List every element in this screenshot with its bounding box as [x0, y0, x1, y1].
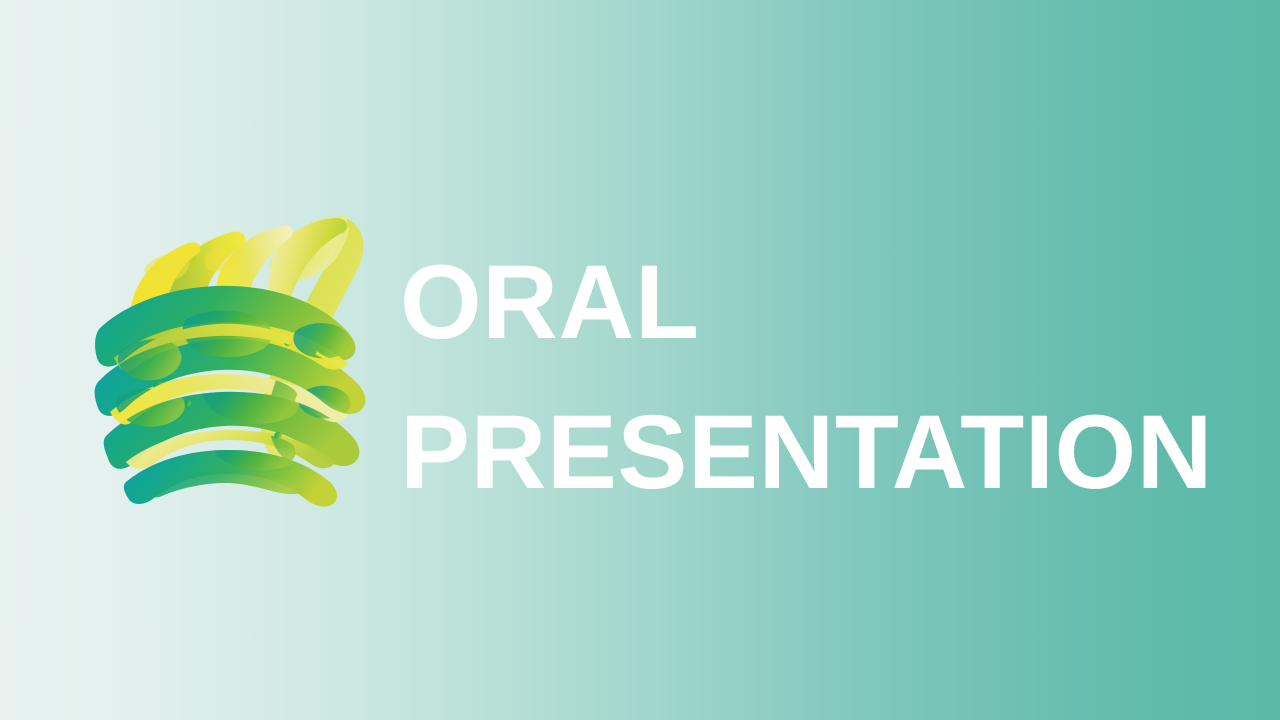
presentation-slide: ORAL PRESENTATION — [0, 0, 1280, 720]
title-line-1: ORAL — [400, 228, 1230, 378]
slide-title: ORAL PRESENTATION — [400, 228, 1230, 528]
globe-leaf-logo — [92, 200, 384, 516]
title-line-2: PRESENTATION — [400, 378, 1230, 528]
